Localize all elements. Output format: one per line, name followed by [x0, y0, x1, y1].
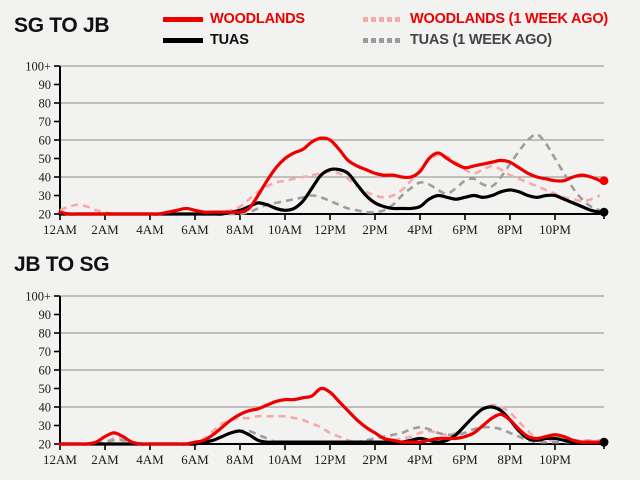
y-axis-label: 100+: [25, 290, 51, 304]
x-axis-label: 2AM: [91, 452, 119, 467]
x-axis-label: 4PM: [407, 222, 433, 237]
legend: WOODLANDS WOODLANDS (1 WEEK AGO) TUAS TU…: [0, 0, 640, 56]
legend-item-label: TUAS (1 WEEK AGO): [410, 33, 552, 48]
legend-item-label: WOODLANDS: [210, 12, 305, 27]
series-line-woodlands-prev: [60, 155, 600, 215]
x-axis-label: 10PM: [539, 452, 571, 467]
x-axis-label: 8AM: [226, 222, 254, 237]
gridlines: [60, 66, 604, 177]
legend-item-tuas[interactable]: TUAS: [163, 33, 363, 48]
legend-item-woodlands-1-week-ago[interactable]: WOODLANDS (1 WEEK AGO): [363, 12, 633, 27]
x-axis-label: 12AM: [43, 222, 77, 237]
series-line-tuas-prev: [60, 134, 600, 214]
y-axis-label: 40: [39, 171, 52, 185]
legend-item-tuas-1-week-ago[interactable]: TUAS (1 WEEK AGO): [363, 33, 633, 48]
y-axis-label: 50: [39, 152, 52, 166]
dashed-red-line-icon: [363, 17, 403, 22]
x-axis-label: 4PM: [407, 452, 433, 467]
y-axis-label: 20: [39, 438, 52, 452]
series-endpoint-marker-woodlands: [600, 176, 609, 185]
y-axis-label: 30: [39, 189, 52, 203]
y-axis-label: 90: [39, 308, 52, 322]
gridlines: [60, 296, 604, 407]
x-axis-label: 12AM: [43, 452, 77, 467]
series-line-woodlands-prev: [60, 405, 600, 444]
solid-black-line-icon: [163, 38, 203, 43]
y-axis-label: 20: [39, 208, 52, 222]
y-axis-label: 60: [39, 364, 52, 378]
legend-item-label: WOODLANDS (1 WEEK AGO): [410, 12, 608, 27]
series-endpoint-marker-tuas: [600, 438, 609, 447]
x-axis-label: 12PM: [314, 452, 346, 467]
y-axis-label: 70: [39, 115, 52, 129]
chart-sg-to-jb: 2030405060708090100+12AM2AM4AM6AM8AM10AM…: [0, 55, 640, 240]
page-title-jb-to-sg: JB TO SG: [14, 253, 109, 277]
y-axis-label: 30: [39, 419, 52, 433]
y-axis-label: 80: [39, 327, 52, 341]
y-axis: 2030405060708090100+: [25, 290, 60, 452]
y-axis-label: 90: [39, 78, 52, 92]
x-axis-label: 8PM: [497, 452, 523, 467]
x-axis-label: 10AM: [268, 222, 302, 237]
x-axis-label: 8AM: [226, 452, 254, 467]
series-line-tuas: [60, 169, 600, 214]
y-axis-label: 40: [39, 401, 52, 415]
y-axis-label: 100+: [25, 60, 51, 74]
x-axis-label: 2PM: [362, 222, 388, 237]
solid-red-line-icon: [163, 17, 203, 22]
y-axis-label: 60: [39, 134, 52, 148]
x-axis-label: 12PM: [314, 222, 346, 237]
series-endpoint-marker-tuas: [600, 208, 609, 217]
y-axis-label: 50: [39, 382, 52, 396]
traffic-dashboard: SG TO JB WOODLANDS WOODLANDS (1 WEEK AGO…: [0, 0, 640, 480]
x-axis-label: 4AM: [136, 452, 164, 467]
legend-item-woodlands[interactable]: WOODLANDS: [163, 12, 363, 27]
dashed-gray-line-icon: [363, 38, 403, 43]
series-line-tuas: [60, 407, 600, 444]
x-axis-label: 8PM: [497, 222, 523, 237]
x-axis-label: 6AM: [181, 452, 209, 467]
x-axis-label: 2PM: [362, 452, 388, 467]
y-axis-label: 80: [39, 97, 52, 111]
x-axis-label: 10AM: [268, 452, 302, 467]
chart-jb-to-sg: 2030405060708090100+12AM2AM4AM6AM8AM10AM…: [0, 285, 640, 470]
x-axis-label: 6PM: [452, 222, 478, 237]
legend-item-label: TUAS: [210, 33, 249, 48]
x-axis-label: 2AM: [91, 222, 119, 237]
x-axis-label: 6AM: [181, 222, 209, 237]
x-axis-label: 4AM: [136, 222, 164, 237]
x-axis-label: 6PM: [452, 452, 478, 467]
series-line-woodlands: [60, 138, 600, 214]
y-axis: 2030405060708090100+: [25, 60, 60, 222]
x-axis-label: 10PM: [539, 222, 571, 237]
y-axis-label: 70: [39, 345, 52, 359]
